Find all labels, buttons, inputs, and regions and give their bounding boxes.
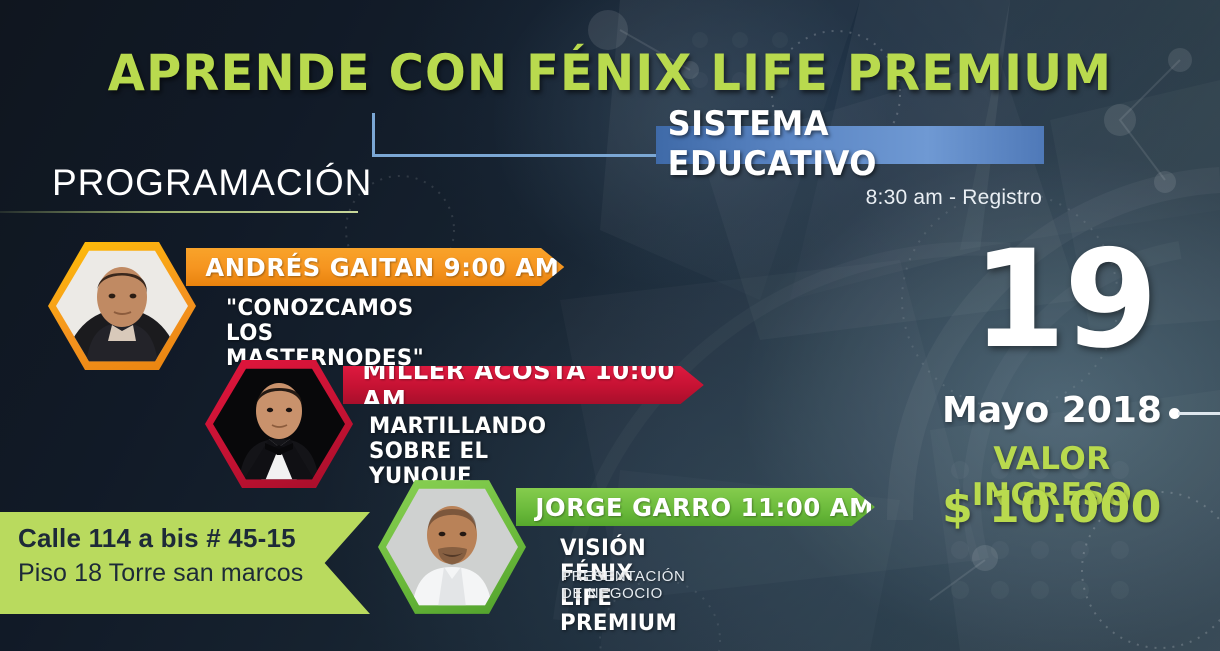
price-value: $ 10.000 (942, 482, 1162, 533)
registration-time: 8:30 am - Registro (866, 186, 1042, 210)
avatar-1 (48, 240, 196, 372)
page-subtitle: SISTEMA EDUCATIVO (668, 122, 1033, 166)
address-line-2: Piso 18 Torre san marcos (18, 559, 370, 588)
speaker-banner-3: JORGE GARRO 11:00 AM (516, 488, 875, 526)
schedule-heading: PROGRAMACIÓN (52, 162, 372, 204)
address-line-1: Calle 114 a bis # 45-15 (18, 523, 370, 554)
date-line-marker (1178, 412, 1220, 415)
venue-address-banner: Calle 114 a bis # 45-15 Piso 18 Torre sa… (0, 512, 370, 614)
event-poster: APRENDE CON FÉNIX LIFE PREMIUM SISTEMA E… (0, 0, 1220, 651)
speaker-banner-2: MILLER ACOSTA 10:00 AM (343, 366, 704, 404)
event-month-year: Mayo 2018 (942, 390, 1162, 431)
speaker-talk-sub-3: PRESENTACIÓN DE NEGOCIO (561, 568, 685, 602)
avatar-2 (205, 358, 353, 490)
speaker-banner-1: ANDRÉS GAITAN 9:00 AM (186, 248, 564, 286)
schedule-heading-rule (0, 211, 358, 213)
event-day: 19 (954, 232, 1174, 367)
avatar-3 (378, 478, 526, 616)
title-connector-line (372, 113, 664, 157)
page-title: APRENDE CON FÉNIX LIFE PREMIUM (24, 44, 1195, 102)
